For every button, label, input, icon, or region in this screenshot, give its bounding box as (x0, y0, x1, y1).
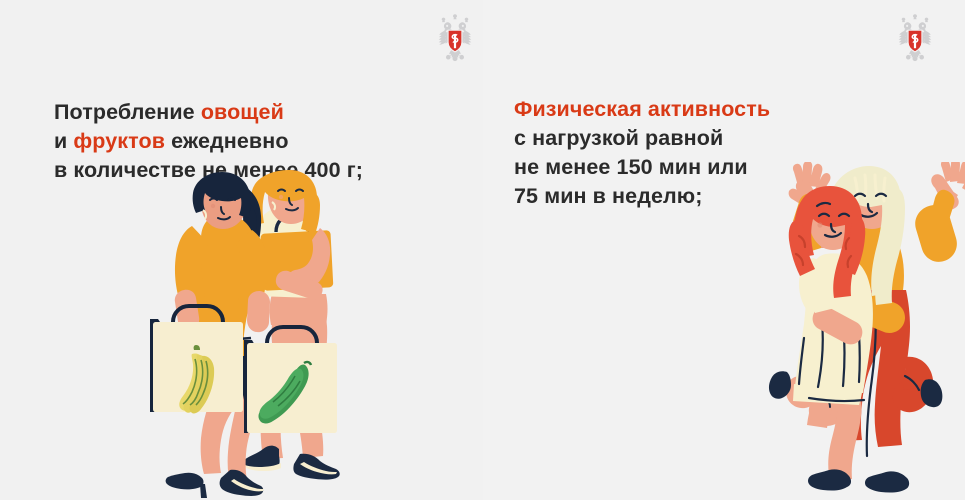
headline-line: с нагрузкой равной (514, 124, 770, 153)
headline-text: с нагрузкой равной (514, 126, 723, 150)
slide-physical-activity: Физическая активность с нагрузкой равной… (483, 0, 965, 500)
headline-line: 75 мин в неделю; (514, 182, 770, 211)
headline-text: не менее 150 мин или (514, 155, 748, 179)
headline-line: не менее 150 мин или (514, 153, 770, 182)
headline-text: ежедневно (165, 129, 289, 153)
headline-text: 75 мин в неделю; (514, 184, 703, 208)
ministry-of-health-emblem (891, 13, 939, 63)
two-women-dancing-illustration (749, 162, 965, 500)
slide-pair-stage: Потребление овощей и фруктов ежедневно в… (0, 0, 965, 500)
headline-text: Потребление (54, 100, 201, 124)
headline-line: Физическая активность (514, 95, 770, 124)
ministry-of-health-emblem (431, 13, 479, 63)
headline-line: и фруктов ежедневно (54, 127, 363, 156)
headline-text: и (54, 129, 73, 153)
two-women-with-grocery-bags-illustration (148, 170, 394, 500)
slide-vegetables-fruits: Потребление овощей и фруктов ежедневно в… (0, 0, 483, 500)
slide-headline: Физическая активность с нагрузкой равной… (514, 95, 770, 211)
headline-line: Потребление овощей (54, 98, 363, 127)
headline-accent-text: Физическая активность (514, 97, 770, 121)
headline-accent-text: фруктов (73, 129, 165, 153)
headline-accent-text: овощей (201, 100, 284, 124)
